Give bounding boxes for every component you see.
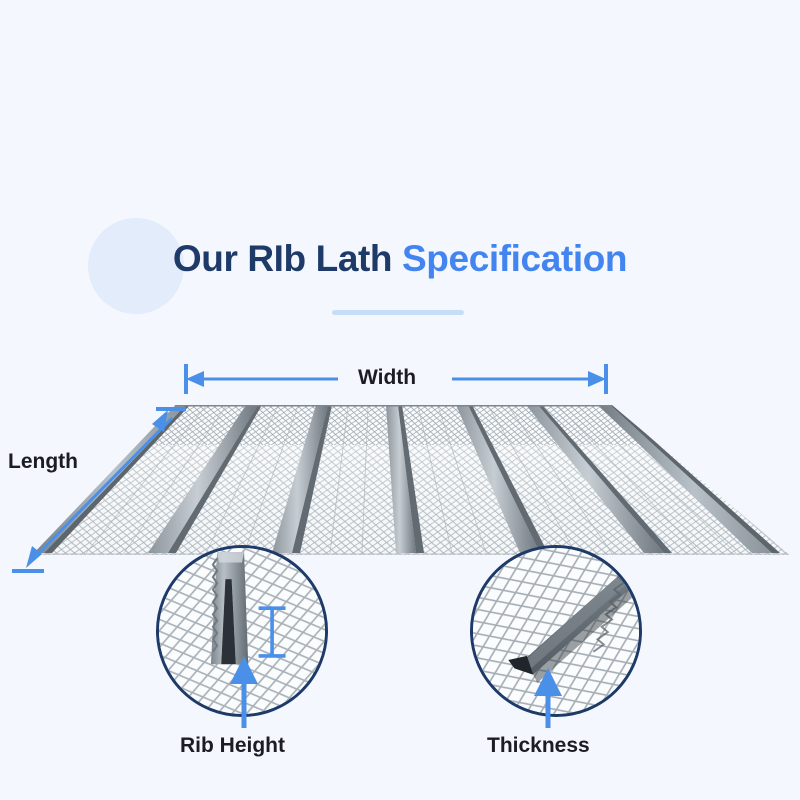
thickness-callout-circle bbox=[470, 545, 642, 717]
title-divider bbox=[332, 310, 464, 315]
width-dimension-label: Width bbox=[358, 366, 416, 390]
page-title: Our RIb Lath Specification bbox=[0, 234, 800, 284]
rib-lath-illustration bbox=[0, 0, 800, 800]
callout-pointer-arrows bbox=[0, 0, 800, 800]
rib-height-callout-circle bbox=[156, 545, 328, 717]
rib-height-label: Rib Height bbox=[180, 734, 285, 758]
length-dimension-arrow bbox=[12, 409, 186, 571]
rib-height-magnified-view bbox=[159, 548, 325, 714]
thickness-label: Thickness bbox=[487, 734, 590, 758]
thickness-magnified-view bbox=[473, 548, 639, 714]
length-dimension-label: Length bbox=[8, 450, 78, 474]
page-title-accent: Specification bbox=[402, 238, 627, 279]
specification-infographic: Our RIb Lath Specification Width Length bbox=[0, 0, 800, 800]
page-title-primary: Our RIb Lath bbox=[173, 238, 392, 279]
